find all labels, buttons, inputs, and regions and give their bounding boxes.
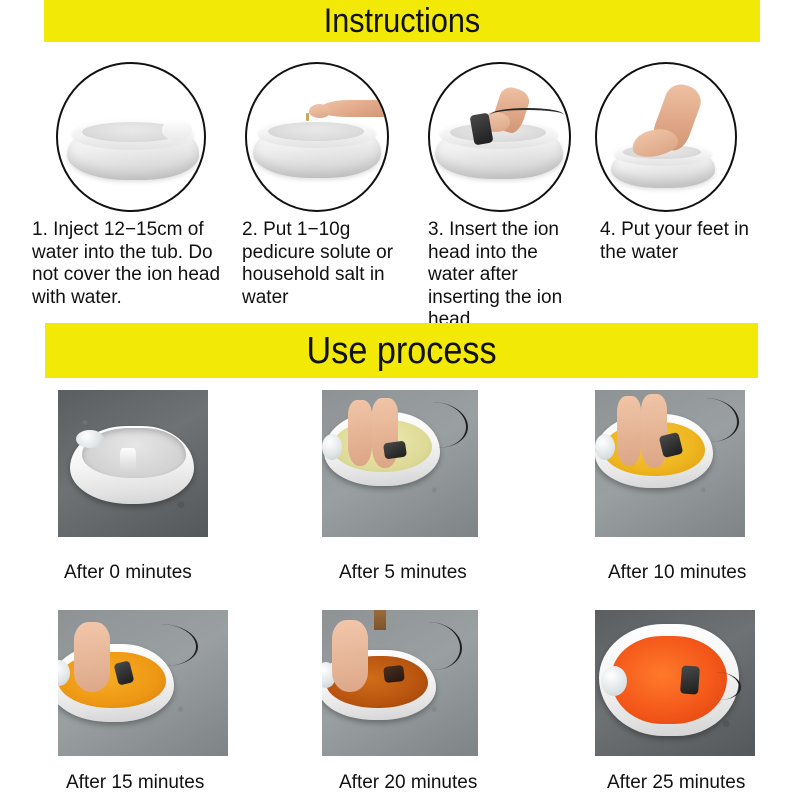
power-cord <box>695 672 741 700</box>
step-1-caption: 1. Inject 12−15cm of water into the tub.… <box>32 219 228 309</box>
foot-in-tub-icon <box>597 64 735 210</box>
right-foot <box>641 394 667 468</box>
hand-inserting-ion-head-icon <box>430 64 569 210</box>
control-knob <box>601 666 627 696</box>
use-process-banner-title: Use process <box>306 332 496 370</box>
left-foot <box>617 396 641 466</box>
step-4-illustration-circle <box>595 62 737 212</box>
photo-caption-10-minutes: After 10 minutes <box>608 562 746 584</box>
use-process-photo-10-minutes <box>595 390 745 537</box>
control-knob <box>595 434 615 460</box>
left-foot <box>348 400 372 466</box>
step-3-caption: 3. Insert the ion head into the water af… <box>428 219 580 332</box>
photo-caption-15-minutes: After 15 minutes <box>66 772 204 794</box>
ion-head-post <box>120 448 136 470</box>
step-4-caption: 4. Put your feet in the water <box>600 219 760 264</box>
power-cord <box>400 622 462 670</box>
use-process-photo-20-minutes <box>322 610 478 756</box>
use-process-photo-0-minutes <box>58 390 208 537</box>
instruction-steps-row <box>0 56 800 216</box>
step-2-illustration-circle <box>245 62 389 212</box>
photo-caption-25-minutes: After 25 minutes <box>607 772 745 794</box>
instructions-section-banner: Instructions <box>44 0 760 42</box>
foot-tub-empty-icon <box>58 64 204 210</box>
product-instruction-page: Instructions <box>0 0 800 800</box>
photo-caption-20-minutes: After 20 minutes <box>339 772 477 794</box>
instructions-banner-title: Instructions <box>324 4 480 38</box>
power-cord <box>128 624 198 666</box>
hand <box>332 620 368 692</box>
control-knob <box>76 430 104 448</box>
photo-caption-5-minutes: After 5 minutes <box>339 562 467 584</box>
use-process-section-banner: Use process <box>45 323 758 378</box>
power-cord <box>677 398 739 442</box>
control-knob <box>322 434 342 460</box>
photo-caption-0-minutes: After 0 minutes <box>64 562 192 584</box>
use-process-photo-15-minutes <box>58 610 228 756</box>
step-3-illustration-circle <box>428 62 571 212</box>
use-process-photo-5-minutes <box>322 390 478 537</box>
hand <box>74 622 110 692</box>
power-cord <box>402 402 468 448</box>
use-process-photo-25-minutes <box>595 610 755 756</box>
hand-pouring-salt-icon <box>247 64 387 210</box>
chair-leg <box>374 610 386 630</box>
step-2-caption: 2. Put 1−10g pedicure solute or househol… <box>242 219 422 309</box>
step-1-illustration-circle <box>56 62 206 212</box>
